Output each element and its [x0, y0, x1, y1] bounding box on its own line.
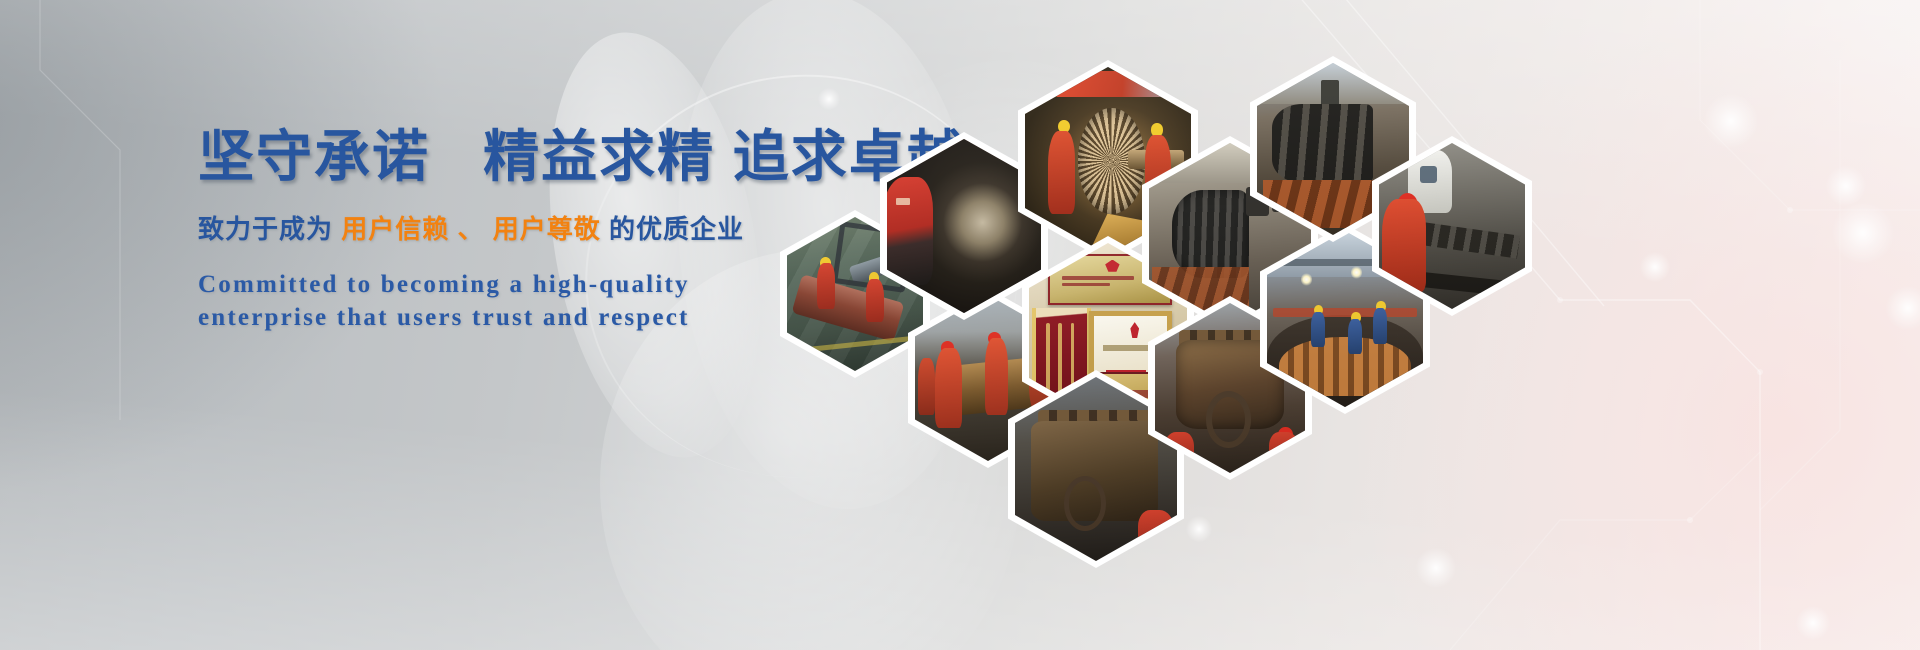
subtitle-tail: 的优质企业 — [609, 214, 744, 244]
subtitle-highlight-1: 用户信赖 — [341, 214, 449, 244]
hexagon-photo-collage — [760, 40, 1460, 540]
subtitle-lead: 致力于成为 — [198, 214, 333, 244]
subtitle-separator: 、 — [458, 214, 485, 244]
headline-part-1: 坚守承诺 — [198, 125, 430, 188]
headline-part-2: 精益求精 — [483, 125, 715, 188]
promotional-banner: 坚守承诺 精益求精 追求卓越 致力于成为 用户信赖 、 用户尊敬 的优质企业 C… — [0, 0, 1920, 650]
subtitle-highlight-2: 用户尊敬 — [493, 214, 601, 244]
